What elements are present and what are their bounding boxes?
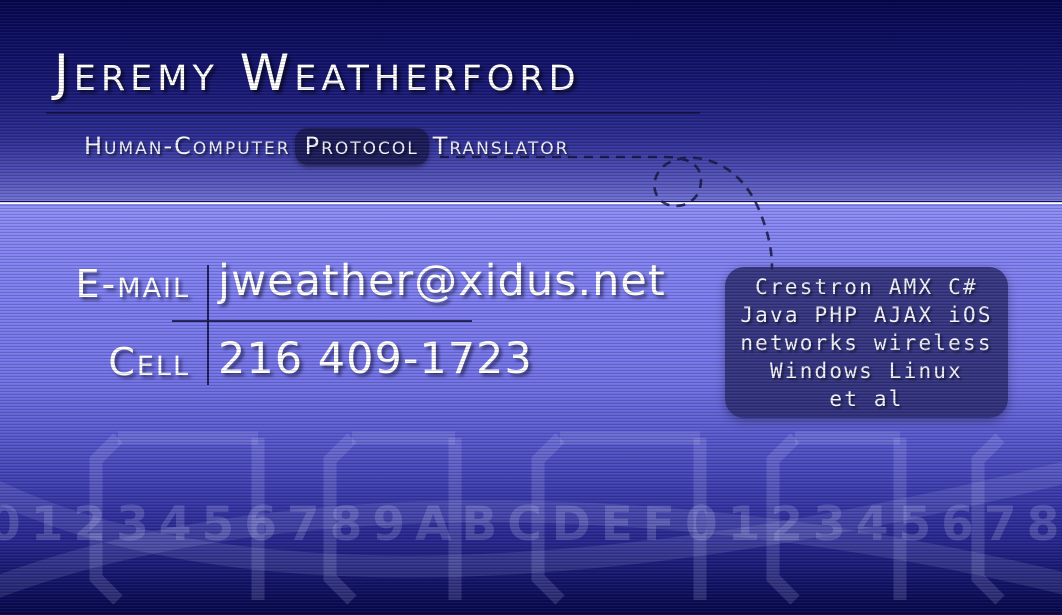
cell-label: Cell [10, 340, 190, 384]
hex-digit-strip: 0123456789ABCDEF0123456789ABCDEF01234567… [0, 498, 1062, 554]
email-label: E-mail [10, 262, 190, 306]
skills-line: networks wireless [740, 329, 992, 357]
contact-block: E-mail jweather@xidus.net Cell 216 409-1… [0, 250, 720, 400]
skills-box: Crestron AMX C# Java PHP AJAX iOS networ… [725, 267, 1008, 418]
subtitle-before: Human-Computer [84, 132, 291, 160]
contact-vertical-divider [207, 265, 209, 385]
page-title: Jeremy Weatherford [54, 44, 581, 102]
business-card: 0123456789ABCDEF0123456789ABCDEF01234567… [0, 0, 1062, 615]
subtitle: Human-Computer Protocol Translator [84, 128, 569, 165]
title-underline [46, 112, 700, 114]
skills-line: et al [829, 385, 903, 413]
skills-line: Java PHP AJAX iOS [740, 301, 992, 329]
email-value: jweather@xidus.net [218, 256, 666, 306]
skills-line: Crestron AMX C# [755, 273, 978, 301]
contact-horizontal-divider [172, 320, 472, 322]
subtitle-after: Translator [433, 132, 570, 160]
cell-value: 216 409-1723 [218, 334, 533, 384]
skills-line: Windows Linux [770, 357, 963, 385]
protocol-highlight: Protocol [295, 128, 429, 165]
